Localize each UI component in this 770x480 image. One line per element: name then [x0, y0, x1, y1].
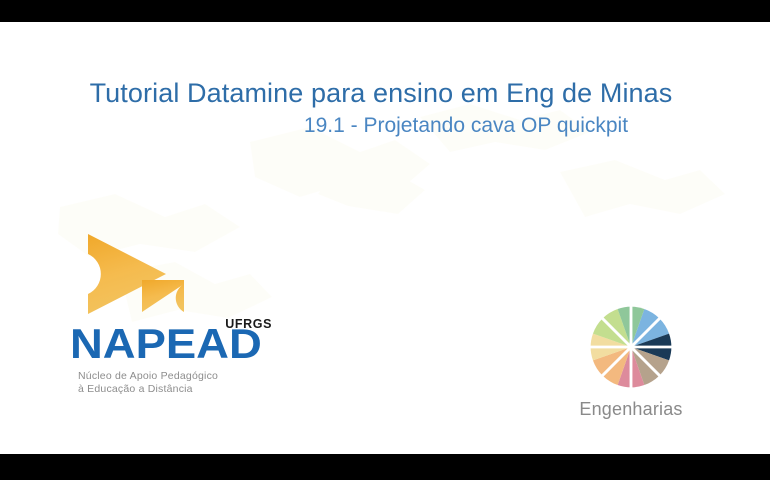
napead-arrow-mark — [74, 232, 186, 316]
engenharias-label: Engenharias — [556, 399, 706, 420]
engenharias-logo: Engenharias — [556, 305, 706, 420]
napead-tagline: Núcleo de Apoio Pedagógico à Educação a … — [78, 370, 280, 396]
letterbox-bar-top — [0, 0, 770, 22]
page-title: Tutorial Datamine para ensino em Eng de … — [0, 76, 762, 110]
engenharias-pinwheel-icon — [589, 305, 673, 389]
napead-tagline-line2: à Educação a Distância — [78, 383, 280, 396]
title-block: Tutorial Datamine para ensino em Eng de … — [0, 76, 770, 140]
letterbox-bar-bottom — [0, 454, 770, 480]
video-title-slide: Tutorial Datamine para ensino em Eng de … — [0, 0, 770, 480]
napead-tagline-line1: Núcleo de Apoio Pedagógico — [78, 370, 280, 383]
ufrgs-label: UFRGS — [225, 317, 272, 331]
napead-logo: UFRGS NAPEAD Núcleo de Apoio Pedagógico … — [70, 232, 280, 396]
page-subtitle: 19.1 - Projetando cava OP quickpit — [0, 112, 762, 140]
slide-canvas: Tutorial Datamine para ensino em Eng de … — [0, 22, 770, 454]
